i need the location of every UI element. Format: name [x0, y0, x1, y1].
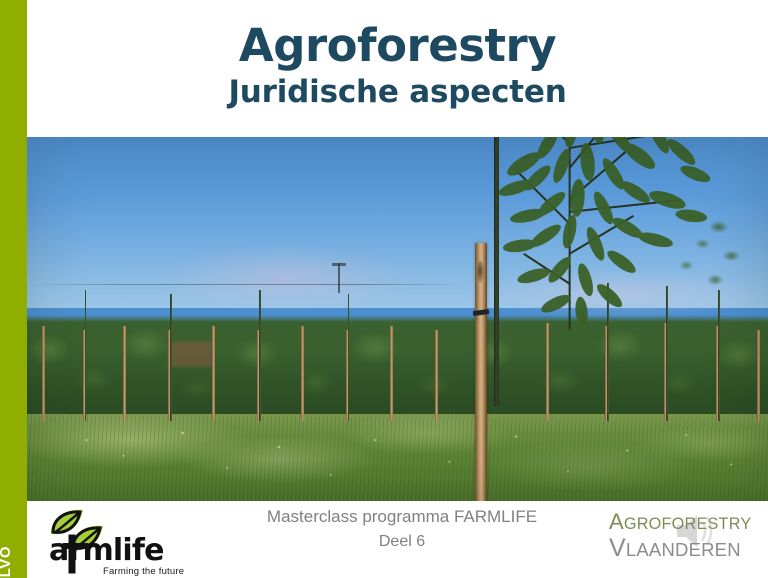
farmlife-logo: armlife Farming the future — [33, 504, 208, 576]
presentation-slide: ILVO Agroforestry Juridische aspecten — [0, 0, 768, 578]
tree-stake — [390, 326, 393, 421]
footer-center-text: Masterclass programma FARMLIFE Deel 6 — [202, 505, 602, 553]
afv-line1-initial: A — [609, 509, 624, 534]
page-subtitle: Juridische aspecten — [228, 77, 566, 108]
play-speaker-overlay-icon — [673, 509, 717, 553]
sapling-trunk — [259, 290, 261, 421]
tree-stake — [301, 326, 304, 421]
sapling-trunk — [170, 294, 172, 421]
tree-stake — [757, 330, 760, 421]
footer-part-label: Deel 6 — [202, 530, 602, 553]
sapling-trunk — [85, 290, 87, 421]
foreground-tree-stake — [475, 243, 487, 501]
agroforestry-vlaanderen-logo: AGROFORESTRY VLAANDEREN — [607, 507, 765, 573]
tree-stake — [123, 326, 126, 421]
page-title: Agroforestry — [239, 23, 556, 68]
distant-building — [168, 341, 212, 367]
slide-footer: armlife Farming the future Masterclass p… — [27, 501, 768, 578]
meadow-flowers — [27, 414, 768, 501]
farmlife-tagline: Farming the future — [103, 566, 184, 577]
agroforestry-field-photo — [27, 137, 768, 501]
left-accent-sidebar: ILVO — [0, 0, 27, 578]
antenna-mast — [338, 263, 340, 293]
title-block: Agroforestry Juridische aspecten — [27, 0, 768, 137]
tree-stake — [212, 326, 215, 421]
ilvo-vertical-label: ILVO — [0, 546, 14, 578]
stake-knot — [477, 261, 484, 283]
power-wire — [27, 284, 472, 285]
canopy-svg — [420, 137, 731, 330]
farmlife-wordmark: armlife — [49, 536, 164, 566]
footer-program-label: Masterclass programma FARMLIFE — [202, 505, 602, 530]
sapling-trunk — [348, 294, 350, 421]
young-tree-canopy — [420, 137, 731, 330]
tree-stake — [546, 323, 549, 421]
tree-stake — [435, 330, 438, 421]
afv-line2-initial: V — [609, 534, 626, 562]
tree-stake — [42, 326, 45, 421]
